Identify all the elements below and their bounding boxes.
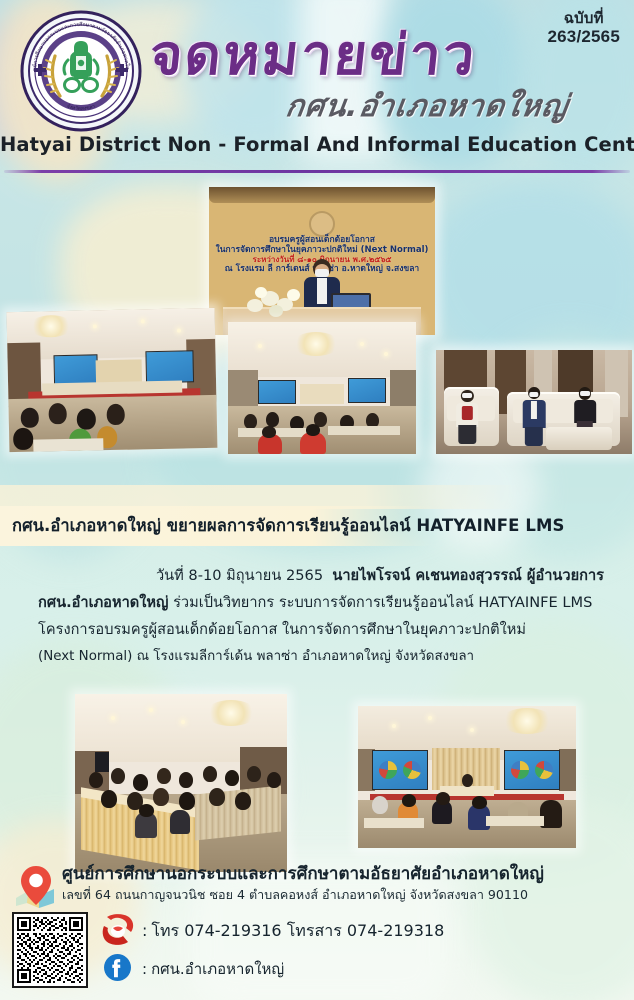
tel-label: โทร [151, 921, 179, 940]
footer-contact-block: ศูนย์การศึกษานอกระบบและการศึกษาตามอัธยาศ… [0, 858, 634, 1000]
masthead-subtitle-thai: กศน.อำเภอหาดใหญ่ [283, 83, 572, 130]
body-line3: โครงการอบรมครูผู้สอนเด็กด้อยโอกาส ในการจ… [38, 621, 526, 638]
facebook-icon[interactable] [104, 954, 131, 981]
photo-audience-seated [228, 322, 416, 454]
issue-label: ฉบับที่ [547, 10, 620, 27]
body-paragraph: วันที่ 8-10 มิถุนายน 2565 นายไพโรจน์ คเช… [38, 562, 604, 670]
photo-conference-room-screens [7, 308, 218, 452]
photo-hero-podium-speaker: อบรมครูผู้สอนเด็กด้อยโอกาส ในการจัดการศึ… [209, 187, 435, 335]
body-line4: (Next Normal) ณ โรงแรมลีการ์เด้น พลาซ่า … [38, 649, 474, 664]
tel-separator: : [142, 921, 147, 940]
facebook-page-name: กศน.อำเภอหาดใหญ่ [151, 960, 284, 978]
masthead-title-english: Hatyai District Non - Formal And Informa… [0, 133, 634, 156]
fax-label: โทรสาร [287, 921, 342, 940]
page-headline: กศน.อำเภอหาดใหญ่ ขยายผลการจัดการเรียนรู้… [12, 513, 564, 539]
issue-number: 263/2565 [547, 27, 620, 47]
tel-number: 074-219316 [184, 921, 281, 940]
facebook-line: :กศน.อำเภอหาดใหญ่ [142, 957, 284, 981]
hero-banner-line2: ในการจัดการศึกษาในยุคภาวะปกติใหม่ (Next … [215, 245, 429, 255]
lobby-person-left [456, 390, 480, 444]
telephone-line: :โทร 074-219316 โทรสาร 074-219318 [142, 919, 444, 944]
lobby-person-centre [522, 387, 546, 445]
issue-number-block: ฉบับที่ 263/2565 [547, 10, 620, 47]
nfe-songkhla-emblem-icon: ศูนย์การศึกษานอกระบบและการศึกษาตามอัธยาศ… [18, 8, 144, 134]
body-line2-org: กศน.อำเภอหาดใหญ่ [38, 594, 168, 611]
qr-code[interactable] [12, 912, 88, 988]
masthead-header: ศูนย์การศึกษานอกระบบและการศึกษาตามอัธยาศ… [0, 0, 634, 176]
photo-participants-tables [75, 694, 287, 872]
hero-banner-line1: อบรมครูผู้สอนเด็กด้อยโอกาส [215, 235, 429, 245]
body-line1-name: นายไพโรจน์ คเชนทองสุวรรณ์ ผู้อำนวยการ [332, 567, 604, 584]
hero-flower-arrangement [243, 285, 305, 319]
telephone-icon [100, 914, 136, 946]
fax-number: 074-219318 [347, 921, 444, 940]
fb-separator: : [142, 960, 147, 978]
photo-seminar-hall-presentation [358, 706, 576, 848]
organisation-name: ศูนย์การศึกษานอกระบบและการศึกษาตามอัธยาศ… [62, 860, 544, 887]
map-pin-icon [14, 864, 60, 908]
body-line1-date: วันที่ 8-10 มิถุนายน 2565 [156, 567, 323, 584]
organisation-address: เลขที่ 64 ถนนกาญจนวนิช ซอย 4 ตำบลคอหงส์ … [62, 885, 528, 905]
body-line2-text: ร่วมเป็นวิทยากร ระบบการจัดการเรียนรู้ออน… [173, 594, 592, 611]
header-divider-rule [4, 170, 630, 173]
newsletter-poster: ศูนย์การศึกษานอกระบบและการศึกษาตามอัธยาศ… [0, 0, 634, 1000]
photo-lobby-sofas [436, 350, 632, 454]
